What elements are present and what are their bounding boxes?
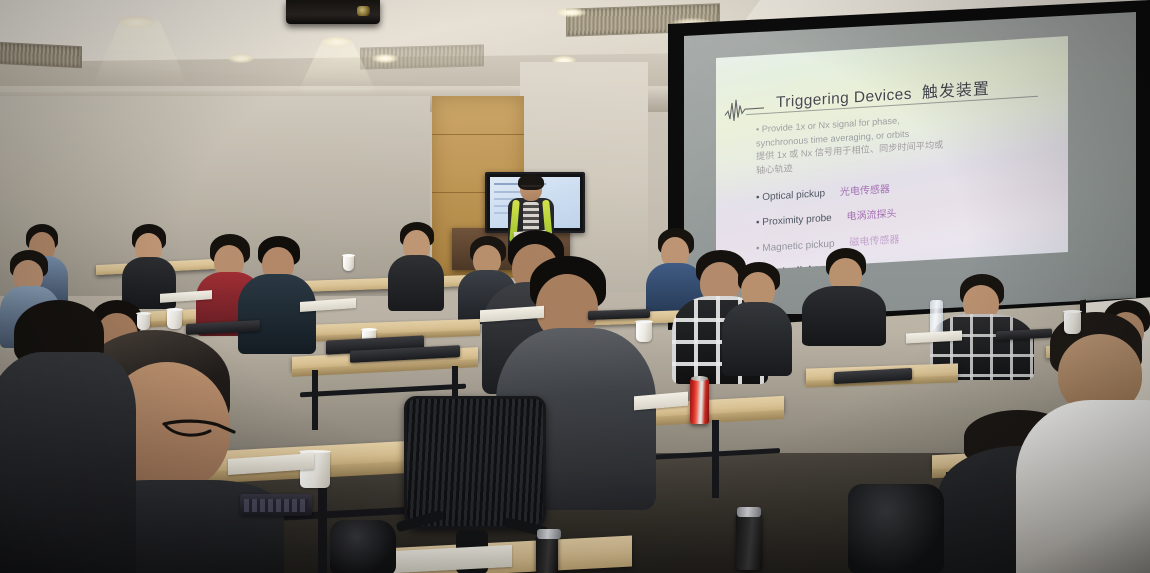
attendee-torso bbox=[1016, 400, 1150, 573]
ceiling-projector bbox=[286, 0, 380, 24]
attendee bbox=[722, 262, 792, 372]
thermos-flask[interactable] bbox=[536, 534, 558, 573]
coffee-cup[interactable] bbox=[343, 256, 354, 271]
coffee-cup[interactable] bbox=[137, 314, 150, 330]
office-chair[interactable] bbox=[404, 396, 540, 572]
slide-list-item-en: • Proximity probe bbox=[756, 213, 832, 229]
coffee-cup[interactable] bbox=[1064, 312, 1081, 334]
attendee bbox=[388, 222, 444, 308]
ceiling-downlight bbox=[372, 54, 398, 63]
projector-lens-icon bbox=[357, 6, 370, 16]
slide-list-item-cn: 电涡流探头 bbox=[847, 209, 897, 223]
thermos-flask[interactable] bbox=[736, 512, 762, 570]
attendee-torso bbox=[802, 286, 886, 346]
attendee bbox=[802, 248, 886, 340]
calculator[interactable] bbox=[240, 494, 312, 516]
coffee-cup[interactable] bbox=[167, 310, 182, 329]
ceiling-downlight bbox=[556, 8, 586, 17]
slide-list-item-cn: 磁电传感器 bbox=[849, 234, 899, 248]
desk-leg bbox=[312, 370, 318, 430]
attendee-foreground bbox=[1030, 312, 1150, 573]
slide-title-en: Triggering Devices bbox=[776, 86, 912, 112]
backpack[interactable] bbox=[848, 484, 944, 573]
soda-can[interactable] bbox=[690, 378, 709, 424]
calculator-keys[interactable] bbox=[244, 499, 308, 512]
attendee-foreground bbox=[0, 300, 130, 573]
slide-title: Triggering Devices触发装置 bbox=[776, 75, 990, 112]
waveform-icon bbox=[724, 95, 764, 124]
attendee-torso bbox=[0, 352, 136, 573]
glasses-icon bbox=[521, 185, 541, 192]
coffee-cup[interactable] bbox=[636, 322, 652, 342]
presentation-slide: Triggering Devices触发装置 • Provide 1x or N… bbox=[716, 36, 1068, 272]
chair-backrest[interactable] bbox=[404, 396, 546, 529]
classroom-photo: Triggering Devices触发装置 • Provide 1x or N… bbox=[0, 0, 1150, 573]
attendee-torso bbox=[388, 255, 444, 311]
hvac-vent bbox=[0, 42, 82, 69]
attendee bbox=[930, 274, 1034, 374]
attendee-torso bbox=[722, 302, 792, 376]
slide-bullet-list: • Provide 1x or Nx signal for phase, syn… bbox=[756, 105, 1056, 280]
backpack[interactable] bbox=[330, 520, 396, 573]
slide-title-cn: 触发装置 bbox=[922, 81, 990, 102]
glasses-icon bbox=[162, 418, 238, 444]
slide-list-item-en: • Optical pickup bbox=[756, 188, 825, 203]
desk-leg bbox=[318, 474, 327, 573]
ceiling-downlight bbox=[228, 54, 254, 63]
slide-list-item-cn: 光电传感器 bbox=[840, 184, 890, 198]
desk-leg bbox=[712, 420, 719, 498]
